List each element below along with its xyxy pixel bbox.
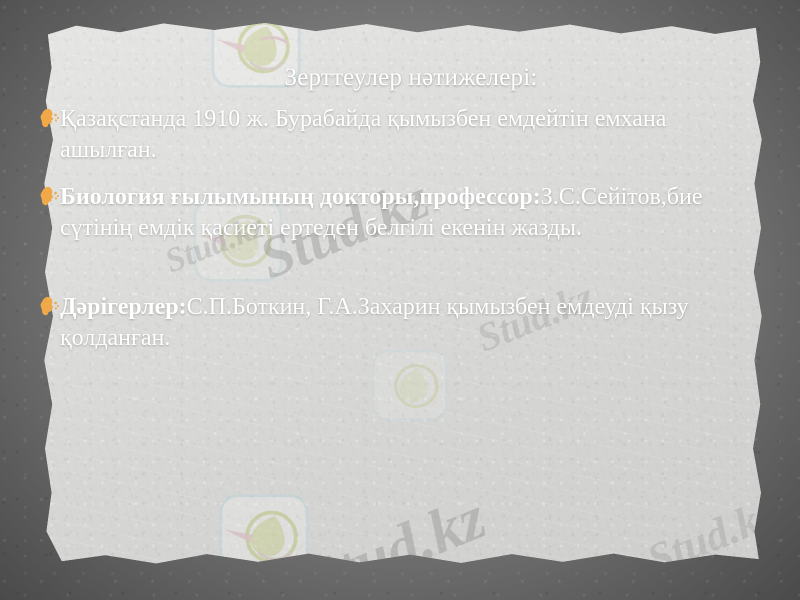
list-item-body: Қазақстанда 1910 ж. Бурабайда қымызбен е…	[60, 106, 666, 163]
speaking-head-bullet-icon	[38, 185, 60, 215]
list-spacer	[38, 244, 762, 292]
slide-title: Зерттеулер нәтижелері:	[0, 63, 800, 93]
list-item-text: Биология ғылымының докторы,профессор:З.С…	[60, 182, 762, 244]
bullet-list: Қазақстанда 1910 ж. Бурабайда қымызбен е…	[38, 104, 762, 354]
speaking-head-bullet-icon	[38, 295, 60, 325]
list-item-text: Қазақстанда 1910 ж. Бурабайда қымызбен е…	[60, 104, 762, 166]
list-item-text: Дәрігерлер:С.П.Боткин, Г.А.Захарин қымыз…	[60, 292, 762, 354]
list-item: Дәрігерлер:С.П.Боткин, Г.А.Захарин қымыз…	[38, 292, 762, 354]
list-item: Биология ғылымының докторы,профессор:З.С…	[38, 182, 762, 244]
list-item-lead: Биология ғылымының докторы,профессор:	[60, 184, 541, 210]
speaking-head-bullet-icon	[38, 107, 60, 137]
presentation-slide: Stud.kz Stud.kz Stud.kz Stud.kz Stud.kz …	[0, 0, 800, 600]
slide-content: Зерттеулер нәтижелері: Қазақстанда 1910 …	[0, 0, 800, 600]
list-item-lead: Дәрігерлер:	[60, 294, 187, 320]
list-item: Қазақстанда 1910 ж. Бурабайда қымызбен е…	[38, 104, 762, 166]
